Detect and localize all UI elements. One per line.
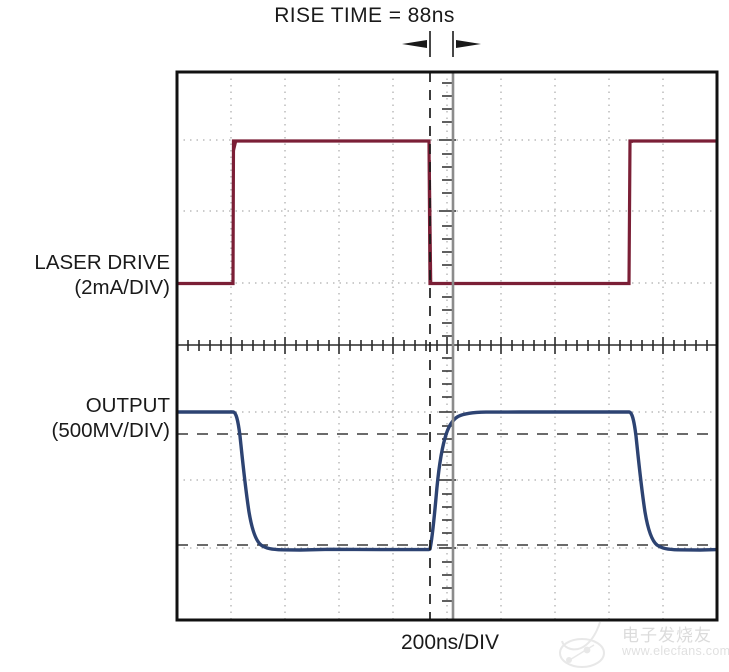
rise-time-markers [402,31,481,57]
right-arrow-icon [456,40,481,48]
scope-plot [0,0,729,672]
oscilloscope-screenshot: RISE TIME = 88ns LASER DRIVE (2mA/DIV) O… [0,0,729,672]
left-arrow-icon [402,40,427,48]
laser-drive-rise2-artifact [630,141,633,142]
